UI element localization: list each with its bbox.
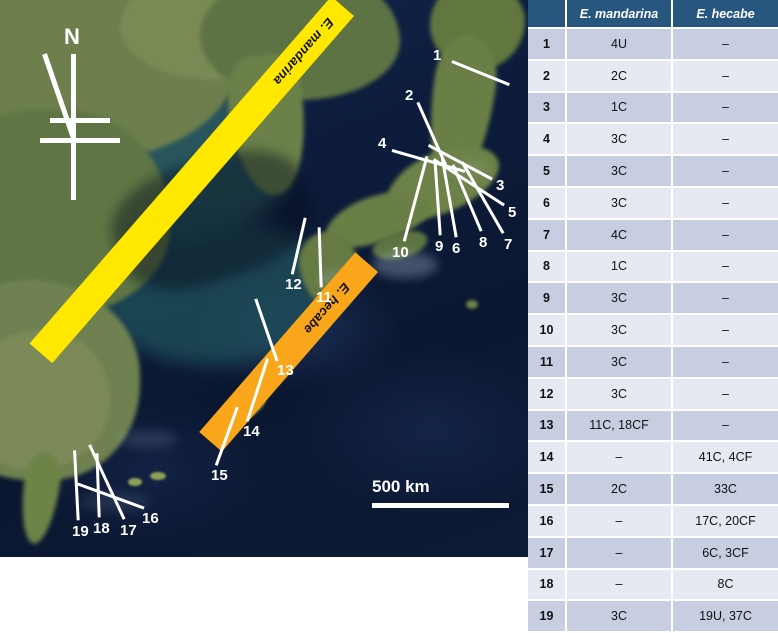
cell-index: 17: [528, 537, 566, 569]
table-row: 14–41C, 4CF: [528, 441, 778, 473]
compass-bar-lower: [40, 138, 120, 143]
cell-e-hecabe: 41C, 4CF: [672, 441, 778, 473]
cell-e-hecabe: –: [672, 92, 778, 124]
cell-e-hecabe: –: [672, 123, 778, 155]
cell-index: 16: [528, 505, 566, 537]
table-row: 31C–: [528, 92, 778, 124]
site-label-9: 9: [435, 239, 443, 254]
table-row: 1311C, 18CF–: [528, 410, 778, 442]
cell-e-mandarina: 3C: [566, 282, 672, 314]
table-row: 43C–: [528, 123, 778, 155]
site-label-6: 6: [452, 241, 460, 256]
column-header-e-hecabe: E. hecabe: [672, 0, 778, 28]
table-head: E. mandarina E. hecabe: [528, 0, 778, 28]
cell-index: 10: [528, 314, 566, 346]
cell-e-hecabe: 8C: [672, 569, 778, 601]
cell-index: 1: [528, 28, 566, 60]
table-row: 17–6C, 3CF: [528, 537, 778, 569]
cell-e-hecabe: 17C, 20CF: [672, 505, 778, 537]
cell-index: 15: [528, 473, 566, 505]
cell-e-mandarina: –: [566, 441, 672, 473]
site-label-17: 17: [120, 523, 137, 538]
cell-index: 2: [528, 60, 566, 92]
table-row: 152C33C: [528, 473, 778, 505]
cell-e-mandarina: 1C: [566, 92, 672, 124]
satellite-map: N E. mandarina E. hecabe 123456789101112…: [0, 0, 528, 557]
cell-e-hecabe: 19U, 37C: [672, 600, 778, 632]
sample-table-panel: E. mandarina E. hecabe 14U–22C–31C–43C–5…: [528, 0, 778, 557]
table-row: 18–8C: [528, 569, 778, 601]
site-label-18: 18: [93, 521, 110, 536]
cell-e-mandarina: 3C: [566, 600, 672, 632]
site-label-16: 16: [142, 511, 159, 526]
site-label-5: 5: [508, 205, 516, 220]
cell-e-hecabe: –: [672, 155, 778, 187]
island-ishigaki: [128, 478, 142, 486]
cell-index: 12: [528, 378, 566, 410]
table-row: 93C–: [528, 282, 778, 314]
table-header-row: E. mandarina E. hecabe: [528, 0, 778, 28]
island-miyako: [150, 472, 166, 480]
cell-e-mandarina: 1C: [566, 251, 672, 283]
table-row: 14U–: [528, 28, 778, 60]
cloud-wisp: [118, 430, 178, 448]
cell-index: 11: [528, 346, 566, 378]
table-row: 22C–: [528, 60, 778, 92]
table-row: 81C–: [528, 251, 778, 283]
north-arrow: N: [40, 26, 130, 201]
table-row: 193C19U, 37C: [528, 600, 778, 632]
cell-e-hecabe: –: [672, 28, 778, 60]
site-label-15: 15: [211, 468, 228, 483]
cell-e-mandarina: 4U: [566, 28, 672, 60]
cell-index: 5: [528, 155, 566, 187]
north-label: N: [64, 26, 80, 48]
table-row: 63C–: [528, 187, 778, 219]
cell-e-mandarina: 3C: [566, 123, 672, 155]
cell-index: 3: [528, 92, 566, 124]
site-label-1: 1: [433, 48, 441, 63]
scale-bar-label: 500 km: [372, 477, 509, 497]
cell-e-mandarina: 3C: [566, 314, 672, 346]
cell-e-hecabe: –: [672, 346, 778, 378]
table-body: 14U–22C–31C–43C–53C–63C–74C–81C–93C–103C…: [528, 28, 778, 632]
site-label-8: 8: [479, 235, 487, 250]
table-row: 103C–: [528, 314, 778, 346]
site-label-10: 10: [392, 245, 409, 260]
site-label-2: 2: [405, 88, 413, 103]
cell-e-mandarina: 3C: [566, 346, 672, 378]
site-label-7: 7: [504, 237, 512, 252]
table-row: 53C–: [528, 155, 778, 187]
cell-e-hecabe: –: [672, 187, 778, 219]
cell-index: 6: [528, 187, 566, 219]
cell-e-hecabe: –: [672, 219, 778, 251]
site-label-3: 3: [496, 178, 504, 193]
cell-e-mandarina: –: [566, 569, 672, 601]
site-label-11: 11: [316, 290, 332, 305]
site-label-13: 13: [277, 363, 294, 378]
cell-e-hecabe: 6C, 3CF: [672, 537, 778, 569]
cell-index: 9: [528, 282, 566, 314]
cell-e-mandarina: 3C: [566, 155, 672, 187]
site-label-12: 12: [285, 277, 302, 292]
cell-e-mandarina: 4C: [566, 219, 672, 251]
cell-e-mandarina: 3C: [566, 187, 672, 219]
cell-index: 19: [528, 600, 566, 632]
cell-e-hecabe: –: [672, 378, 778, 410]
cell-index: 7: [528, 219, 566, 251]
column-header-e-mandarina: E. mandarina: [566, 0, 672, 28]
site-label-14: 14: [243, 424, 260, 439]
compass-bar-upper: [50, 118, 110, 123]
table-row: 123C–: [528, 378, 778, 410]
cell-e-mandarina: 11C, 18CF: [566, 410, 672, 442]
table-row: 16–17C, 20CF: [528, 505, 778, 537]
cell-e-mandarina: –: [566, 537, 672, 569]
scale-bar: 500 km: [372, 477, 509, 508]
cell-e-hecabe: –: [672, 410, 778, 442]
sample-table: E. mandarina E. hecabe 14U–22C–31C–43C–5…: [528, 0, 778, 633]
island-izu-bonin: [466, 300, 478, 309]
cell-e-hecabe: –: [672, 314, 778, 346]
column-header-index: [528, 0, 566, 28]
cell-e-mandarina: –: [566, 505, 672, 537]
cell-index: 8: [528, 251, 566, 283]
cell-index: 13: [528, 410, 566, 442]
table-row: 74C–: [528, 219, 778, 251]
cell-index: 4: [528, 123, 566, 155]
cell-e-hecabe: 33C: [672, 473, 778, 505]
cell-index: 18: [528, 569, 566, 601]
cell-e-hecabe: –: [672, 282, 778, 314]
figure-root: N E. mandarina E. hecabe 123456789101112…: [0, 0, 778, 557]
scale-bar-rule: [372, 503, 509, 508]
table-row: 113C–: [528, 346, 778, 378]
cell-index: 14: [528, 441, 566, 473]
site-label-4: 4: [378, 136, 386, 151]
cell-e-mandarina: 2C: [566, 473, 672, 505]
cell-e-hecabe: –: [672, 251, 778, 283]
cell-e-mandarina: 3C: [566, 378, 672, 410]
site-label-19: 19: [72, 524, 89, 539]
cell-e-hecabe: –: [672, 60, 778, 92]
cell-e-mandarina: 2C: [566, 60, 672, 92]
